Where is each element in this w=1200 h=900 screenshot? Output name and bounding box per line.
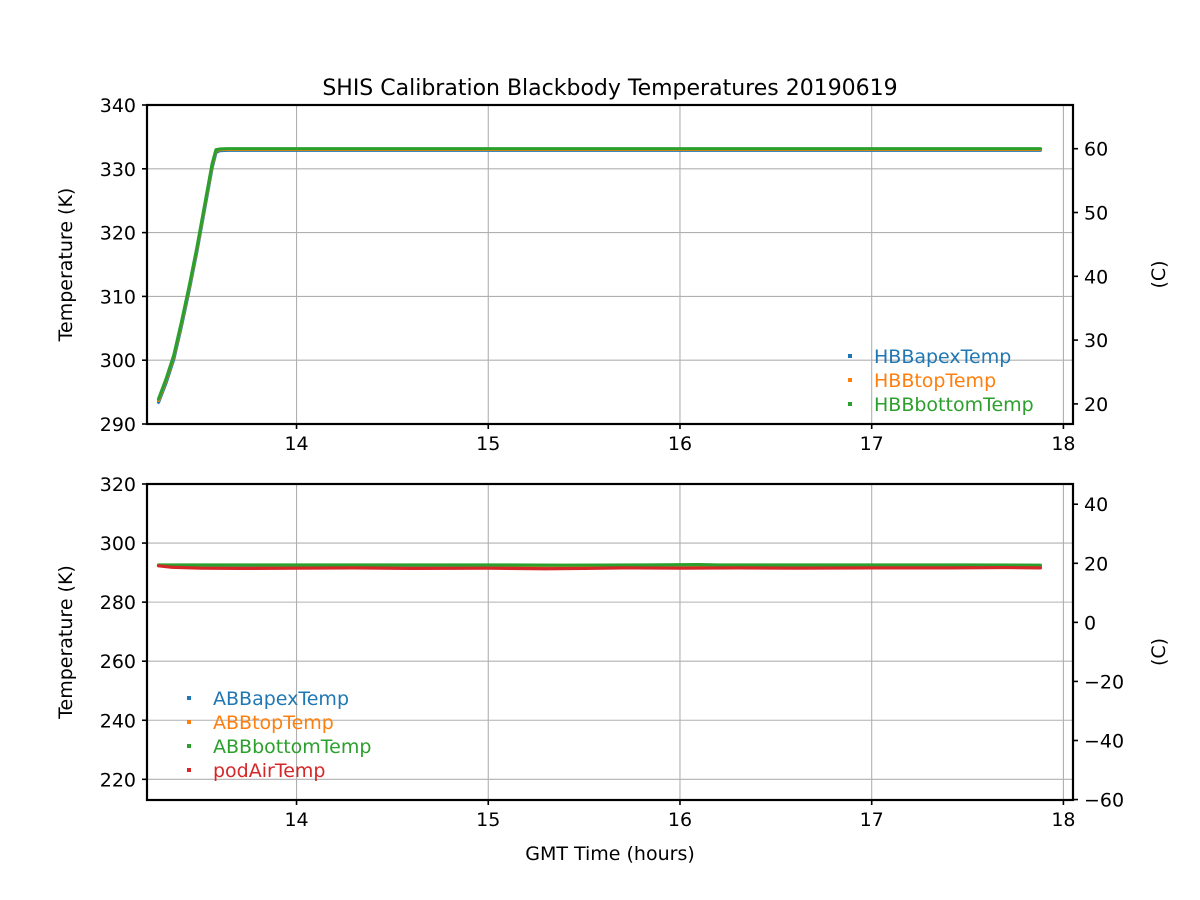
- y-tick-label-right: 0: [1084, 612, 1096, 634]
- y-tick-label: 260: [100, 651, 136, 673]
- legend-marker-ABBapexTemp: [187, 696, 191, 700]
- y-axis-label-right: (C): [1148, 260, 1170, 288]
- x-tick-label: 14: [284, 433, 308, 455]
- legend-marker-HBBtopTemp: [848, 378, 852, 382]
- y-tick-label-right: 60: [1084, 139, 1108, 161]
- y-tick-label: 330: [100, 159, 136, 181]
- x-tick-label: 14: [284, 809, 308, 831]
- x-tick-label: 15: [476, 433, 500, 455]
- legend-label-ABBtopTemp: ABBtopTemp: [213, 712, 334, 734]
- y-tick-label-right: 40: [1084, 494, 1108, 516]
- x-tick-label: 18: [1051, 809, 1075, 831]
- x-tick-label: 17: [860, 433, 884, 455]
- y-tick-label: 220: [100, 769, 136, 791]
- legend-label-ABBbottomTemp: ABBbottomTemp: [213, 736, 371, 758]
- y-axis-label-right: (C): [1148, 638, 1170, 666]
- y-tick-label: 310: [100, 286, 136, 308]
- x-tick-label: 16: [668, 433, 692, 455]
- y-axis-label: Temperature (K): [55, 565, 77, 720]
- axes-hbb-panel: 14151617182903003103203303402030405060Te…: [55, 95, 1170, 455]
- data-group: [159, 565, 1041, 569]
- x-axis-label: GMT Time (hours): [525, 843, 695, 865]
- legend-label-HBBapexTemp: HBBapexTemp: [874, 346, 1011, 368]
- y-tick-label-right: 50: [1084, 203, 1108, 225]
- chart-title: SHIS Calibration Blackbody Temperatures …: [322, 76, 897, 101]
- axes-abb-panel: 1415161718220240260280300320−60−40−20020…: [55, 474, 1170, 865]
- x-tick-label: 18: [1051, 433, 1075, 455]
- figure-canvas: SHIS Calibration Blackbody Temperatures …: [0, 0, 1200, 900]
- y-tick-label: 340: [100, 95, 136, 117]
- y-tick-label: 280: [100, 592, 136, 614]
- y-tick-label: 300: [100, 533, 136, 555]
- legend-marker-HBBapexTemp: [848, 354, 852, 358]
- x-tick-label: 15: [476, 809, 500, 831]
- y-tick-label: 300: [100, 350, 136, 372]
- y-tick-label: 240: [100, 710, 136, 732]
- legend-marker-ABBbottomTemp: [187, 744, 191, 748]
- matplotlib-figure: SHIS Calibration Blackbody Temperatures …: [0, 0, 1200, 900]
- y-tick-label-right: −40: [1084, 730, 1124, 752]
- y-tick-label-right: 20: [1084, 553, 1108, 575]
- y-tick-label-right: −20: [1084, 671, 1124, 693]
- y-tick-label: 320: [100, 223, 136, 245]
- y-tick-label-right: 30: [1084, 330, 1108, 352]
- y-tick-label: 290: [100, 414, 136, 436]
- y-tick-label-right: −60: [1084, 790, 1124, 812]
- legend-abb-panel: ABBapexTempABBtopTempABBbottomTemppodAir…: [187, 688, 371, 782]
- legend-marker-podAirTemp: [187, 768, 191, 772]
- legend-label-HBBtopTemp: HBBtopTemp: [874, 370, 996, 392]
- legend-label-ABBapexTemp: ABBapexTemp: [213, 688, 349, 710]
- legend-marker-ABBtopTemp: [187, 720, 191, 724]
- legend-label-podAirTemp: podAirTemp: [213, 760, 325, 782]
- y-tick-label-right: 20: [1084, 394, 1108, 416]
- y-tick-label-right: 40: [1084, 266, 1108, 288]
- y-tick-label: 320: [100, 474, 136, 496]
- x-tick-label: 16: [668, 809, 692, 831]
- y-axis-label: Temperature (K): [55, 188, 77, 343]
- series-line-ABBbottomTemp: [159, 565, 1041, 566]
- legend-marker-HBBbottomTemp: [848, 402, 852, 406]
- x-tick-label: 17: [860, 809, 884, 831]
- legend-label-HBBbottomTemp: HBBbottomTemp: [874, 394, 1034, 416]
- legend-hbb-panel: HBBapexTempHBBtopTempHBBbottomTemp: [848, 346, 1034, 416]
